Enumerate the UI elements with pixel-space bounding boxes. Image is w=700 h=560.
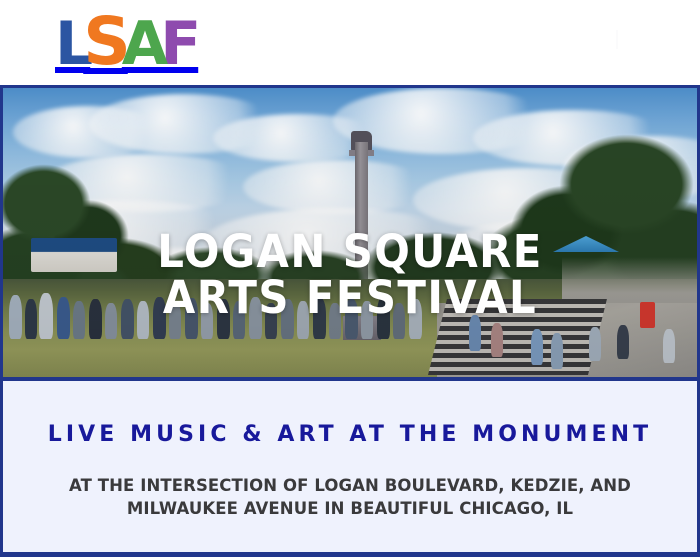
logo-letter-f: F bbox=[160, 17, 198, 72]
info-band: LIVE MUSIC & ART AT THE MONUMENT AT THE … bbox=[0, 381, 700, 557]
hero-title-line-1: LOGAN SQUARE bbox=[27, 229, 672, 275]
page-root: L S A F bbox=[0, 0, 700, 560]
info-headline: LIVE MUSIC & ART AT THE MONUMENT bbox=[3, 423, 697, 447]
hero-title-line-2: ARTS FESTIVAL bbox=[27, 275, 672, 321]
hero-banner: LOGAN SQUARE ARTS FESTIVAL bbox=[0, 85, 700, 381]
placeholder-icon[interactable] bbox=[616, 30, 618, 49]
info-location-line-2: MILWAUKEE AVENUE IN BEAUTIFUL CHICAGO, I… bbox=[3, 498, 697, 521]
site-header: L S A F bbox=[0, 0, 700, 85]
site-logo-lsaf[interactable]: L S A F bbox=[55, 17, 216, 73]
info-location-line-1: AT THE INTERSECTION OF LOGAN BOULEVARD, … bbox=[3, 475, 697, 498]
info-location: AT THE INTERSECTION OF LOGAN BOULEVARD, … bbox=[3, 475, 697, 521]
logo-letter-a: A bbox=[122, 17, 165, 72]
hero-title: LOGAN SQUARE ARTS FESTIVAL bbox=[27, 229, 672, 322]
header-right-slot bbox=[616, 31, 638, 53]
logo-letter-s: S bbox=[83, 12, 128, 73]
